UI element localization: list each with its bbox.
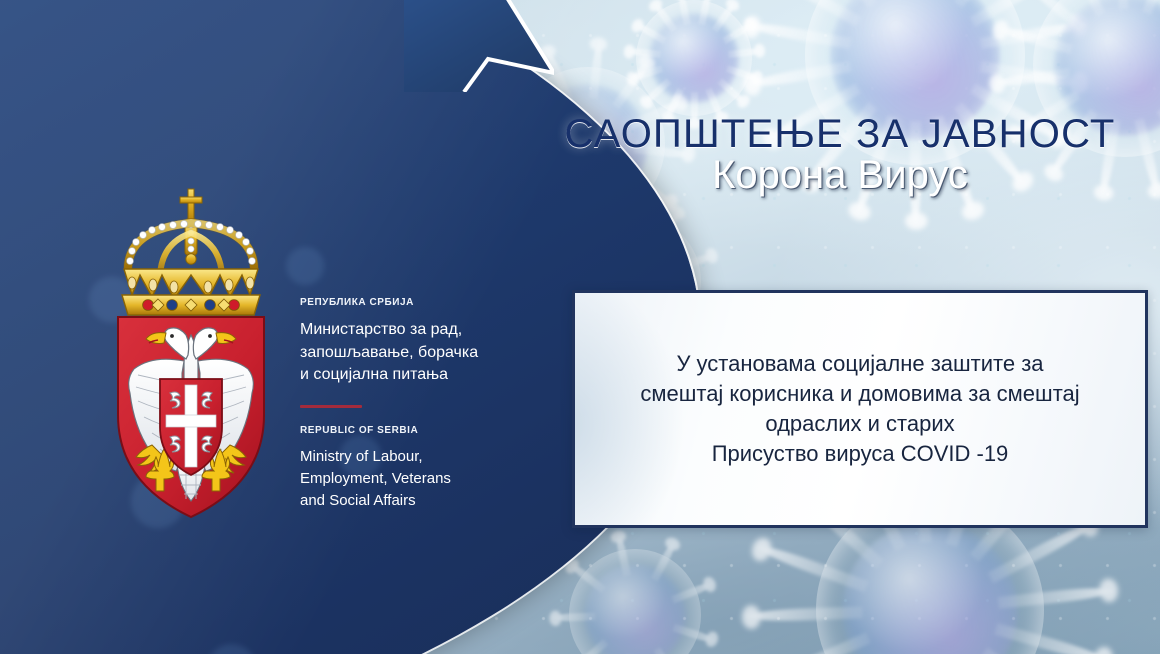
coat-of-arms-of-serbia-icon bbox=[100, 183, 282, 523]
poster-canvas: САОПШТЕЊЕ ЗА ЈАВНОСТ Корона Вирус bbox=[0, 0, 1160, 654]
announcement-line: одраслих и старих bbox=[765, 409, 954, 439]
ministry-name-en-line: Employment, Veterans bbox=[300, 468, 500, 490]
announcement-line: У установама социјалне заштите за bbox=[676, 349, 1043, 379]
ministry-name-sr-line: Министарство за рад, bbox=[300, 319, 500, 342]
virus-particle-icon bbox=[560, 540, 710, 654]
ministry-wordmark: РЕПУБЛИКА СРБИЈА Министарство за рад, за… bbox=[300, 296, 500, 511]
crown-group bbox=[122, 189, 260, 315]
headline-primary: САОПШТЕЊЕ ЗА ЈАВНОСТ bbox=[520, 112, 1160, 157]
announcement-line: Присуство вируса COVID -19 bbox=[712, 439, 1009, 469]
announcement-card: У установама социјалне заштите за смешта… bbox=[572, 290, 1148, 528]
ministry-name-en-line: and Social Affairs bbox=[300, 490, 500, 512]
ministry-name-en: Ministry of Labour, Employment, Veterans… bbox=[300, 446, 500, 511]
red-divider-rule bbox=[300, 405, 362, 408]
ministry-name-sr-line: запошљавање, борачка bbox=[300, 342, 500, 365]
ministry-name-sr: Министарство за рад, запошљавање, борачк… bbox=[300, 319, 500, 387]
republic-label-sr: РЕПУБЛИКА СРБИЈА bbox=[300, 296, 500, 309]
republic-label-en: REPUBLIC OF SERBIA bbox=[300, 424, 500, 437]
ministry-name-sr-line: и социјална питања bbox=[300, 364, 500, 387]
announcement-text: У установама социјалне заштите за смешта… bbox=[575, 293, 1145, 525]
poster-headline: САОПШТЕЊЕ ЗА ЈАВНОСТ Корона Вирус bbox=[520, 112, 1160, 198]
shield-group bbox=[118, 317, 264, 517]
announcement-line: смештај корисника и домовима за смештај bbox=[640, 379, 1079, 409]
ministry-name-en-line: Ministry of Labour, bbox=[300, 446, 500, 468]
headline-secondary: Корона Вирус bbox=[520, 153, 1160, 198]
